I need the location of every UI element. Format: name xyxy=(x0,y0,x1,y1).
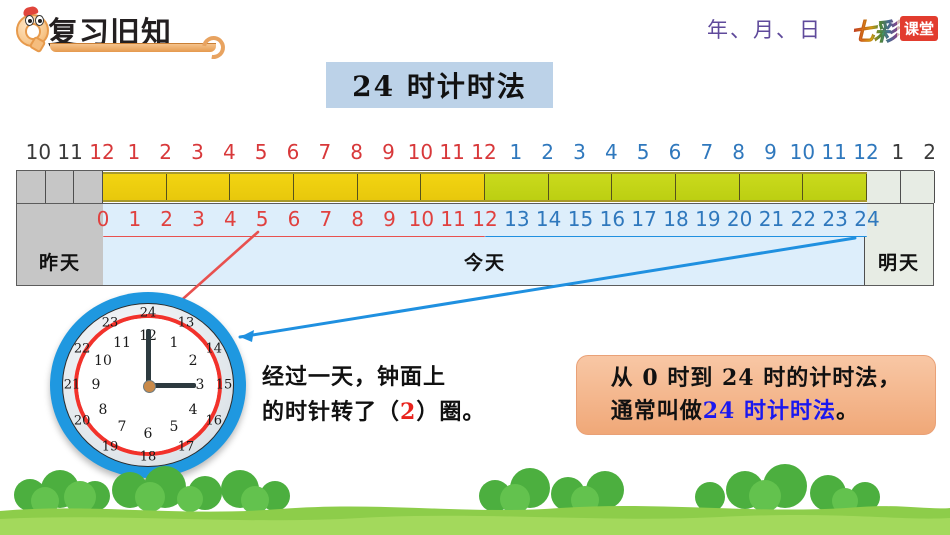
hour24-label: 15 xyxy=(568,206,593,232)
definition-line-2-prefix: 通常叫做 xyxy=(611,398,703,424)
day-cell-today-text: 今天 xyxy=(464,248,506,275)
caption-answer-number: 2 xyxy=(400,399,416,425)
definition-callout: 从 0 时到 24 时的计时法， 通常叫做24 时计时法。 xyxy=(576,355,936,435)
caption-line-2-suffix: ）圈。 xyxy=(416,399,485,425)
hour-bar-band xyxy=(17,171,933,203)
hour24-label: 22 xyxy=(791,206,816,232)
hour24-label: 5 xyxy=(256,206,269,232)
day-label-row: 昨天今天明天 xyxy=(17,237,933,285)
clock-hour-label: 12 xyxy=(853,140,878,164)
clock-hour-label: 10 xyxy=(790,140,815,164)
am-hour-segment xyxy=(230,174,294,200)
pm-hour-segment xyxy=(549,174,613,200)
hour24-label: 4 xyxy=(224,206,237,232)
brand-logo: 七彩课堂 xyxy=(851,12,938,40)
clock-caption: 经过一天，钟面上 的时针转了（2）圈。 xyxy=(262,360,562,430)
clock-hour-label: 8 xyxy=(732,140,745,164)
am-hour-segment xyxy=(167,174,231,200)
slide-canvas: 复习旧知 年、月、日 七彩课堂 24 时计时法 1011121234567891… xyxy=(0,0,950,535)
pm-hour-segment xyxy=(485,174,549,200)
lesson-unit-label: 年、月、日 xyxy=(707,14,822,44)
pm-hour-segment xyxy=(740,174,804,200)
clock-hour-label: 2 xyxy=(541,140,554,164)
pm-hour-segment xyxy=(676,174,740,200)
am-hour-segment xyxy=(421,174,485,200)
clock-hour-label: 10 xyxy=(408,140,433,164)
clock-hour-label: 1 xyxy=(127,140,140,164)
am-hour-segment xyxy=(358,174,422,200)
clock-hands xyxy=(62,303,234,467)
definition-line-2-suffix: 。 xyxy=(836,398,859,424)
clock-hour-label: 12 xyxy=(471,140,496,164)
day-cell-tomorrow-text: 明天 xyxy=(878,248,920,275)
timeline-panel: 10111212345678910111212345678910111212 0… xyxy=(16,140,934,288)
clock-hour-label: 10 xyxy=(26,140,51,164)
hour24-label: 17 xyxy=(631,206,656,232)
pm-hour-segment xyxy=(612,174,676,200)
lesson-title-banner: 24 时计时法 xyxy=(326,62,553,108)
hour24-label: 16 xyxy=(600,206,625,232)
clock-hour-label: 11 xyxy=(439,140,464,164)
hour24-label: 10 xyxy=(409,206,434,232)
definition-text: 从 0 时到 24 时的计时法， 通常叫做24 时计时法。 xyxy=(611,362,902,428)
clock-hour-label: 11 xyxy=(821,140,846,164)
day-cell-yesterday-text: 昨天 xyxy=(39,248,81,275)
hour24-label: 20 xyxy=(727,206,752,232)
clock-hour-label: 1 xyxy=(891,140,904,164)
bar-edge-rule xyxy=(103,172,867,174)
clock-hour-label: 7 xyxy=(700,140,713,164)
clock-hour-label: 11 xyxy=(57,140,82,164)
hour24-label: 14 xyxy=(536,206,561,232)
clock-center-pin xyxy=(143,380,156,393)
dual-dial-clock: 121234567891011241314151617181920212223 xyxy=(44,292,252,484)
clock-hours-number-row: 10111212345678910111212345678910111212 xyxy=(16,140,934,168)
empty-cell-left xyxy=(17,171,46,203)
caption-line-2: 的时针转了（2）圈。 xyxy=(262,395,562,430)
clock-hour-label: 2 xyxy=(159,140,172,164)
am-hour-segment xyxy=(103,174,167,200)
clock-hour-label: 7 xyxy=(318,140,331,164)
hour24-label: 21 xyxy=(759,206,784,232)
clock-hour-label: 12 xyxy=(89,140,114,164)
clock-hour-label: 6 xyxy=(669,140,682,164)
lesson-title-text: 24 时计时法 xyxy=(352,65,527,105)
clock-hour-label: 4 xyxy=(223,140,236,164)
hour24-label: 23 xyxy=(822,206,847,232)
hour24-label: 2 xyxy=(160,206,173,232)
clock-hour-label: 9 xyxy=(764,140,777,164)
empty-cell-right xyxy=(867,171,901,203)
clock-hour-label: 3 xyxy=(191,140,204,164)
am-hour-segment xyxy=(294,174,358,200)
definition-highlight: 24 时计时法 xyxy=(703,398,836,424)
definition-line-1: 从 0 时到 24 时的计时法， xyxy=(611,362,902,395)
empty-cell-left xyxy=(74,171,103,203)
clock-hour-label: 4 xyxy=(605,140,618,164)
hour24-label: 6 xyxy=(288,206,301,232)
hour24-label: 24 xyxy=(854,206,879,232)
timeline-grid: 0123456789101112131415161718192021222324… xyxy=(16,170,934,286)
clock-hour-label: 1 xyxy=(509,140,522,164)
hour24-label: 18 xyxy=(663,206,688,232)
hour24-label: 7 xyxy=(319,206,332,232)
hour24-row-left-pad xyxy=(17,204,104,237)
clock-hour-label: 5 xyxy=(637,140,650,164)
clock-hour-label: 2 xyxy=(923,140,936,164)
clock-hour-label: 8 xyxy=(350,140,363,164)
hour24-label: 1 xyxy=(128,206,141,232)
day-cell-today: 今天 xyxy=(103,237,867,285)
grass-scenery-decor xyxy=(0,463,950,535)
pm-hour-segment xyxy=(803,174,867,200)
day-cell-tomorrow: 明天 xyxy=(864,237,933,285)
day-cell-yesterday: 昨天 xyxy=(17,237,104,285)
clock-hour-label: 9 xyxy=(382,140,395,164)
empty-cell-left xyxy=(46,171,75,203)
hour24-number-row: 0123456789101112131415161718192021222324 xyxy=(17,203,933,237)
clock-hour-label: 5 xyxy=(255,140,268,164)
hour24-label: 19 xyxy=(695,206,720,232)
caption-line-1: 经过一天，钟面上 xyxy=(262,360,562,395)
hour24-label: 3 xyxy=(192,206,205,232)
bar-edge-rule xyxy=(103,200,867,202)
hour24-label: 12 xyxy=(472,206,497,232)
brand-logo-badge: 课堂 xyxy=(900,16,938,41)
definition-line-2: 通常叫做24 时计时法。 xyxy=(611,395,902,428)
caption-line-2-prefix: 的时针转了（ xyxy=(262,399,400,425)
clock-hour-label: 6 xyxy=(287,140,300,164)
title-underline-decor xyxy=(50,43,216,52)
hour24-label: 9 xyxy=(383,206,396,232)
minute-hand xyxy=(146,329,151,385)
hour24-label: 0 xyxy=(97,206,110,232)
brand-logo-text: 七彩 xyxy=(851,17,897,46)
hour24-label: 13 xyxy=(504,206,529,232)
hour24-label: 11 xyxy=(440,206,465,232)
clock-hour-label: 3 xyxy=(573,140,586,164)
empty-cell-right xyxy=(901,171,935,203)
hour24-label: 8 xyxy=(351,206,364,232)
